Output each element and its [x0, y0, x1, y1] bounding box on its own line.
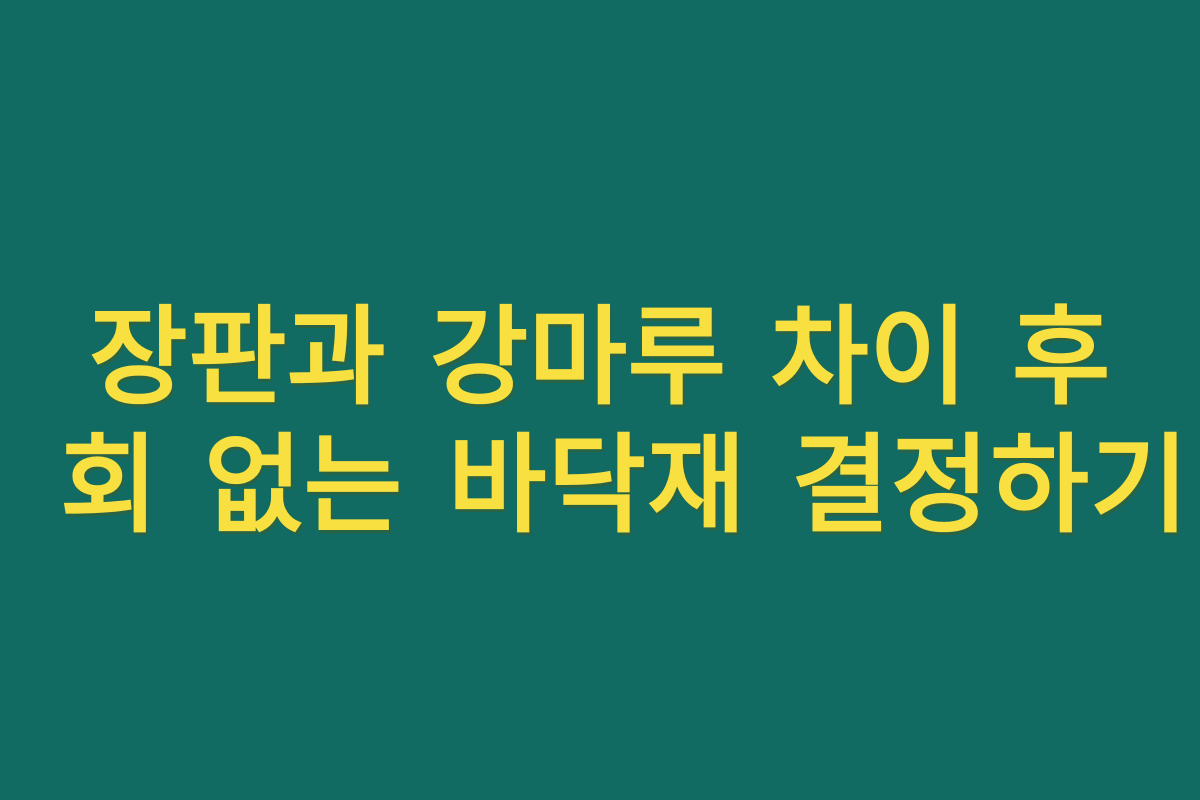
headline-text-block: 장판과 강마루 차이 후 회 없는 바닥재 결정하기 — [60, 294, 1140, 550]
title-card: 장판과 강마루 차이 후 회 없는 바닥재 결정하기 — [0, 0, 1200, 800]
headline-line-1: 장판과 강마루 차이 후 — [60, 294, 1140, 422]
headline-line-2: 회 없는 바닥재 결정하기 — [60, 422, 1140, 550]
